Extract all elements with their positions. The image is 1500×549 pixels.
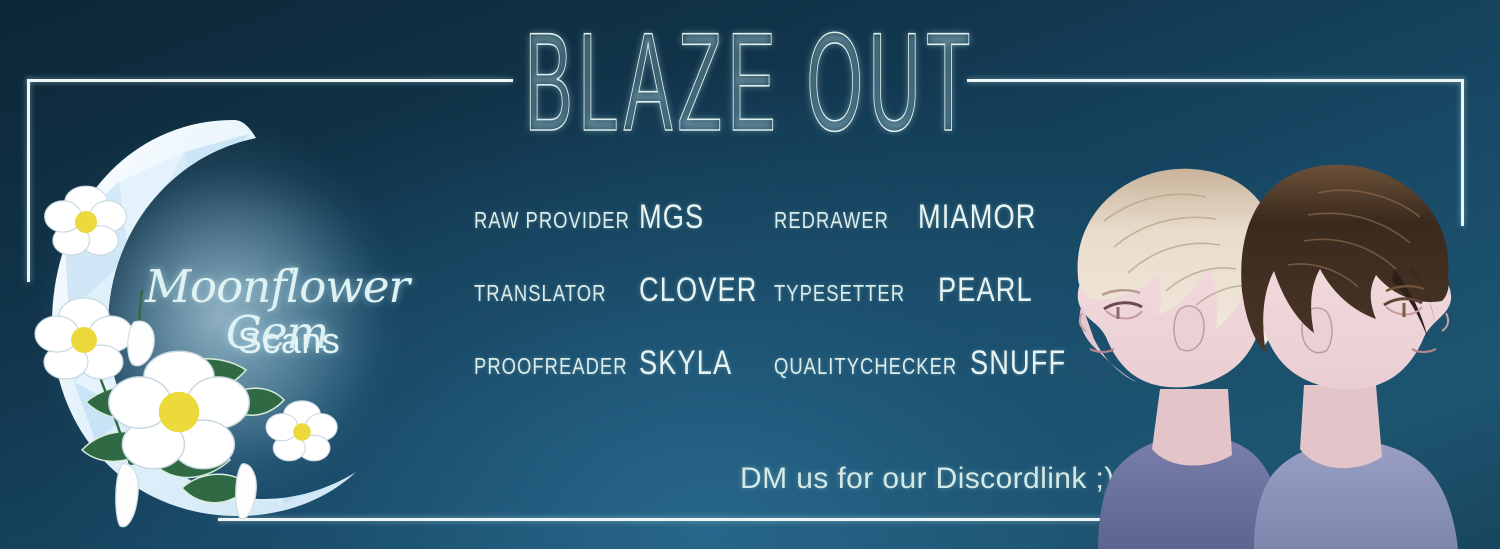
credit-entry-typesetter: TYPESETTER PEARL	[774, 271, 1034, 310]
credits-banner: BLAZE OUT	[0, 0, 1500, 549]
credit-value: CLOVER	[639, 271, 758, 310]
credit-entry-redrawer: REDRAWER MIAMOR	[774, 198, 1034, 237]
logo-subtitle: Scans	[154, 320, 424, 362]
credit-value: PEARL	[938, 271, 1033, 310]
logo: Moonflower Gem Scans	[34, 112, 434, 532]
credit-entry-proofreader: PROOFREADER SKYLA	[474, 344, 774, 383]
credit-entry-qualitychecker: QUALITYCHECKER SNUFF	[774, 344, 1034, 383]
ear	[1174, 306, 1204, 351]
character-artwork	[1020, 149, 1500, 549]
credit-label: REDRAWER	[774, 207, 889, 234]
credit-label: TRANSLATOR	[474, 280, 606, 307]
mouth	[1090, 349, 1114, 352]
page-title: BLAZE OUT	[360, 18, 1140, 146]
credit-row: RAW PROVIDER MGS REDRAWER MIAMOR	[474, 198, 1034, 271]
credit-entry-raw-provider: RAW PROVIDER MGS	[474, 198, 774, 237]
credit-label: PROOFREADER	[474, 353, 606, 380]
credit-label: TYPESETTER	[774, 280, 905, 307]
credit-row: TRANSLATOR CLOVER TYPESETTER PEARL	[474, 271, 1034, 344]
frame-line-left	[27, 79, 30, 282]
credit-value: MIAMOR	[918, 198, 1037, 237]
nose	[1442, 313, 1448, 331]
brunette-character	[1241, 165, 1458, 549]
credit-value: MGS	[639, 198, 704, 237]
credit-entry-translator: TRANSLATOR CLOVER	[474, 271, 774, 310]
credit-label: QUALITYCHECKER	[774, 353, 931, 380]
credit-row: PROOFREADER SKYLA QUALITYCHECKER SNUFF	[474, 344, 1034, 417]
credits-list: RAW PROVIDER MGS REDRAWER MIAMOR TRANSLA…	[474, 198, 1034, 417]
credit-label: RAW PROVIDER	[474, 207, 606, 234]
credit-value: SKYLA	[639, 344, 732, 383]
